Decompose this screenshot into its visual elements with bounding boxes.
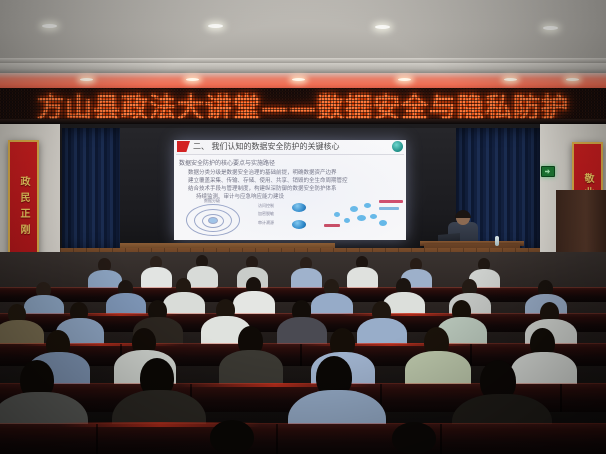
- ceiling: [0, 0, 606, 64]
- slide-body-line: 数据分类分级是数据安全治理的基础前提，明确数据资产边界: [188, 168, 337, 176]
- slide-network-node: [334, 212, 340, 217]
- slide-bullet-heading: 数据安全防护的核心要点与实施路径: [179, 158, 275, 167]
- slide-chip-label: 访问控制: [258, 203, 274, 209]
- slide-network-node: [364, 203, 371, 208]
- slide-body-line: 结合技术手段与管理制度，构建纵深防御的数据安全防护体系: [188, 184, 337, 192]
- red-glow-band: [0, 73, 606, 89]
- led-banner: 方山县政法大讲堂——数据安全与隐私防护: [0, 88, 606, 122]
- projection-screen: 二、 我们认知的数据安全防护的关键核心 数据安全防护的核心要点与实施路径 数据分…: [174, 140, 406, 240]
- slide-network-node: [379, 220, 387, 226]
- band-light: [186, 78, 199, 81]
- ceiling-cornice: [0, 63, 606, 73]
- band-light: [398, 78, 411, 81]
- ceiling-light: [543, 26, 558, 30]
- attendee-shoulders: [187, 266, 218, 288]
- led-banner-text: 方山县政法大讲堂——数据安全与隐私防护: [0, 88, 606, 122]
- ceiling-light: [42, 24, 57, 28]
- ceiling-light: [375, 25, 390, 29]
- slide-accent-bar: [379, 207, 399, 210]
- lecture-hall-photo: 方山县政法大讲堂——数据安全与隐私防护 政民正刚 敬业诚信众 二、 我们认知的数…: [0, 0, 606, 454]
- seat-divider: [276, 424, 278, 454]
- slide-logo-icon: [392, 141, 403, 152]
- seat-divider: [470, 344, 472, 366]
- slide-ring-label: 数据分级: [204, 198, 220, 204]
- band-light: [80, 78, 93, 81]
- slide-network-node: [357, 215, 366, 221]
- band-light: [566, 78, 579, 81]
- band-light: [504, 78, 517, 81]
- slide-chip-label: 审计溯源: [258, 220, 274, 226]
- slide-chip-icon: [292, 220, 306, 229]
- slide-network-node: [370, 214, 377, 219]
- slide-accent-bar: [379, 200, 403, 203]
- attendee-shoulders: [141, 267, 172, 289]
- exit-sign-icon: [541, 166, 555, 177]
- attendee-shoulders: [347, 267, 378, 289]
- seat-highlight: [300, 343, 480, 346]
- seat-divider: [96, 424, 98, 454]
- attendee-head: [392, 422, 436, 454]
- slide-chip-icon: [292, 203, 306, 212]
- seat-highlight: [20, 343, 180, 346]
- slide-chip-caption: 加密脱敏: [258, 211, 274, 217]
- attendee-shoulders: [291, 268, 322, 290]
- slide-network-node: [344, 218, 350, 223]
- water-bottle: [495, 236, 499, 246]
- seat-divider: [440, 424, 442, 454]
- seat-divider: [560, 384, 562, 412]
- slide-network-node: [350, 206, 358, 212]
- seat-divider: [300, 344, 302, 366]
- slide-accent-bar: [324, 224, 340, 227]
- slide-body-line: 建立覆盖采集、传输、存储、使用、共享、销毁的全生命周期管控: [188, 176, 348, 184]
- slide-title: 二、 我们认知的数据安全防护的关键核心: [193, 141, 378, 152]
- band-light: [292, 78, 305, 81]
- audience-area: [0, 252, 606, 454]
- slide-title-rule: [176, 154, 404, 155]
- attendee-head: [210, 420, 254, 454]
- ceiling-light: [208, 24, 223, 28]
- stage-curtain-left: [62, 128, 122, 252]
- seat-row: [0, 424, 606, 454]
- wall-banner-left-text: 政民正刚: [16, 176, 31, 240]
- slide-ring-core: [208, 217, 218, 224]
